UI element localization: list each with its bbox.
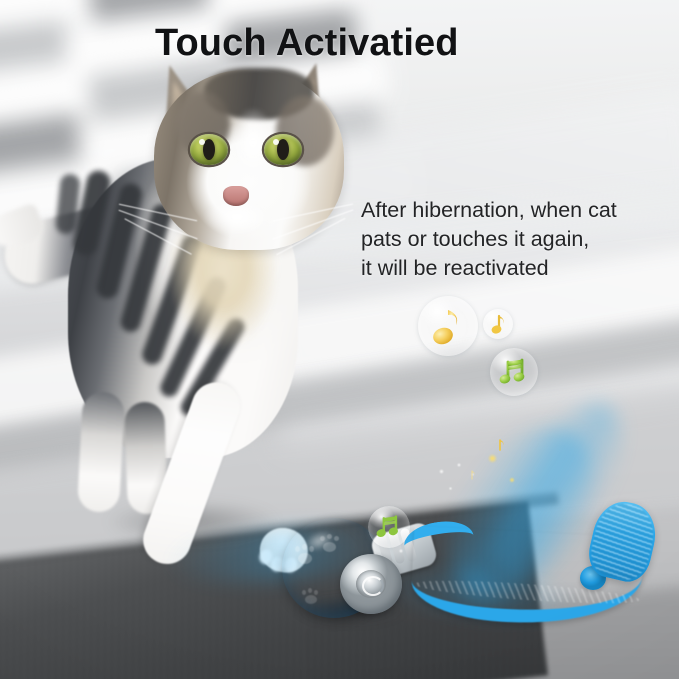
product-feature-poster: Touch Activatied After hibernation, when… — [0, 0, 679, 679]
body-copy-line-2: pats or touches it again, — [361, 225, 617, 254]
vignette-overlay — [0, 0, 679, 679]
body-copy-line-3: it will be reactivated — [361, 254, 617, 283]
body-copy: After hibernation, when cat pats or touc… — [361, 196, 617, 283]
page-title: Touch Activatied — [155, 22, 459, 65]
body-copy-line-1: After hibernation, when cat — [361, 196, 617, 225]
